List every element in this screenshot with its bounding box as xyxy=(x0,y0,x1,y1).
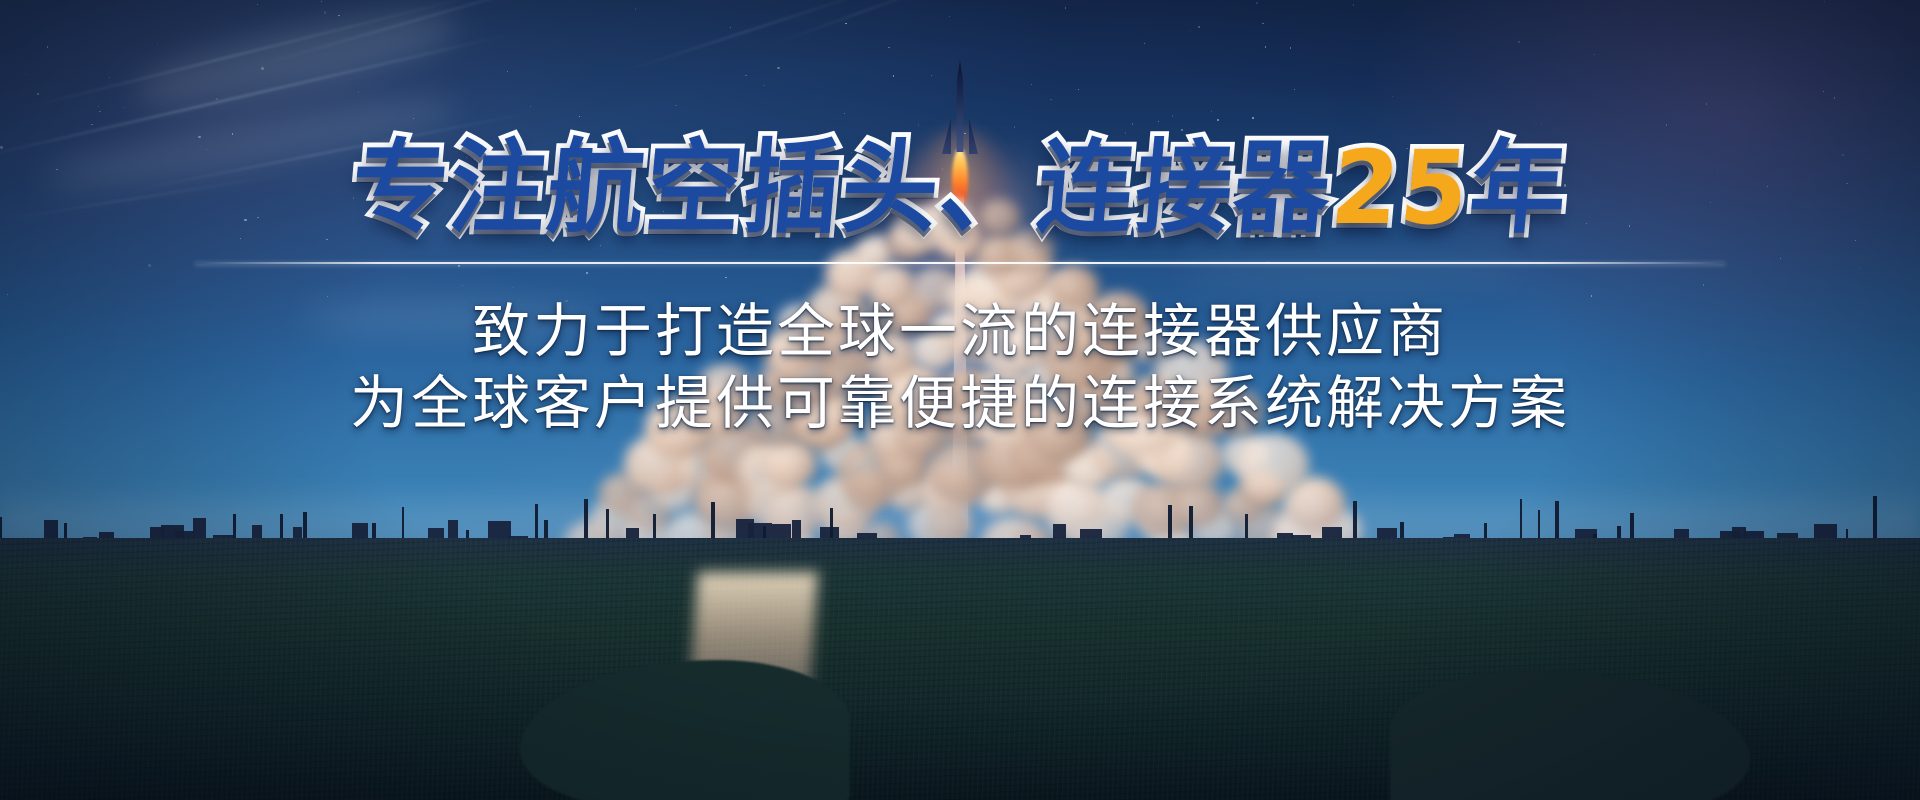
headline-segment-primary: 专注航空插头、连接器 xyxy=(348,137,1337,239)
subtitle-line-2: 为全球客户提供可靠便捷的连接系统解决方案 xyxy=(0,368,1920,439)
headline: 专注航空插头、连接器25年 xyxy=(0,140,1920,236)
hero-banner: 专注航空插头、连接器25年 致力于打造全球一流的连接器供应商 为全球客户提供可靠… xyxy=(0,0,1920,800)
headline-segment-unit: 年 xyxy=(1465,137,1572,239)
headline-segment-years: 25 xyxy=(1328,137,1474,239)
banner-content: 专注航空插头、连接器25年 致力于打造全球一流的连接器供应商 为全球客户提供可靠… xyxy=(0,0,1920,800)
subtitle-line-1: 致力于打造全球一流的连接器供应商 xyxy=(0,296,1920,367)
divider xyxy=(195,262,1725,264)
